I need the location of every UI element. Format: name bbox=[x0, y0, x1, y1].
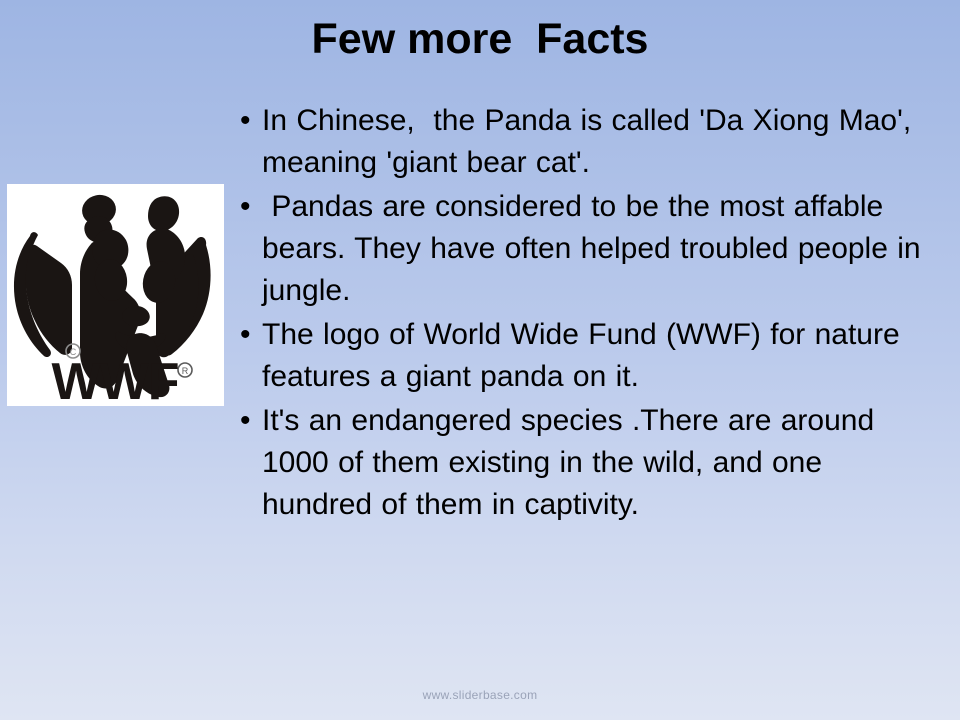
footer-watermark: www.sliderbase.com bbox=[0, 688, 960, 702]
list-item: • The logo of World Wide Fund (WWF) for … bbox=[232, 314, 932, 398]
bullet-text: It's an endangered species .There are ar… bbox=[262, 400, 932, 526]
bullet-marker: • bbox=[232, 314, 262, 356]
wwf-panda-logo-icon: C R WWF bbox=[7, 184, 224, 406]
bullet-text: Pandas are considered to be the most aff… bbox=[262, 186, 932, 312]
page-title: Few more Facts bbox=[0, 16, 960, 63]
list-item: • It's an endangered species .There are … bbox=[232, 400, 932, 526]
slide-canvas: Few more Facts bbox=[0, 0, 960, 720]
bullet-list: • In Chinese, the Panda is called 'Da Xi… bbox=[232, 100, 932, 528]
svg-text:WWF: WWF bbox=[52, 353, 179, 406]
bullet-text: In Chinese, the Panda is called 'Da Xion… bbox=[262, 100, 932, 184]
svg-text:R: R bbox=[182, 366, 189, 376]
bullet-text: The logo of World Wide Fund (WWF) for na… bbox=[262, 314, 932, 398]
bullet-marker: • bbox=[232, 400, 262, 442]
list-item: • Pandas are considered to be the most a… bbox=[232, 186, 932, 312]
wwf-logo-container: C R WWF bbox=[7, 184, 224, 406]
bullet-marker: • bbox=[232, 100, 262, 142]
bullet-marker: • bbox=[232, 186, 262, 228]
list-item: • In Chinese, the Panda is called 'Da Xi… bbox=[232, 100, 932, 184]
